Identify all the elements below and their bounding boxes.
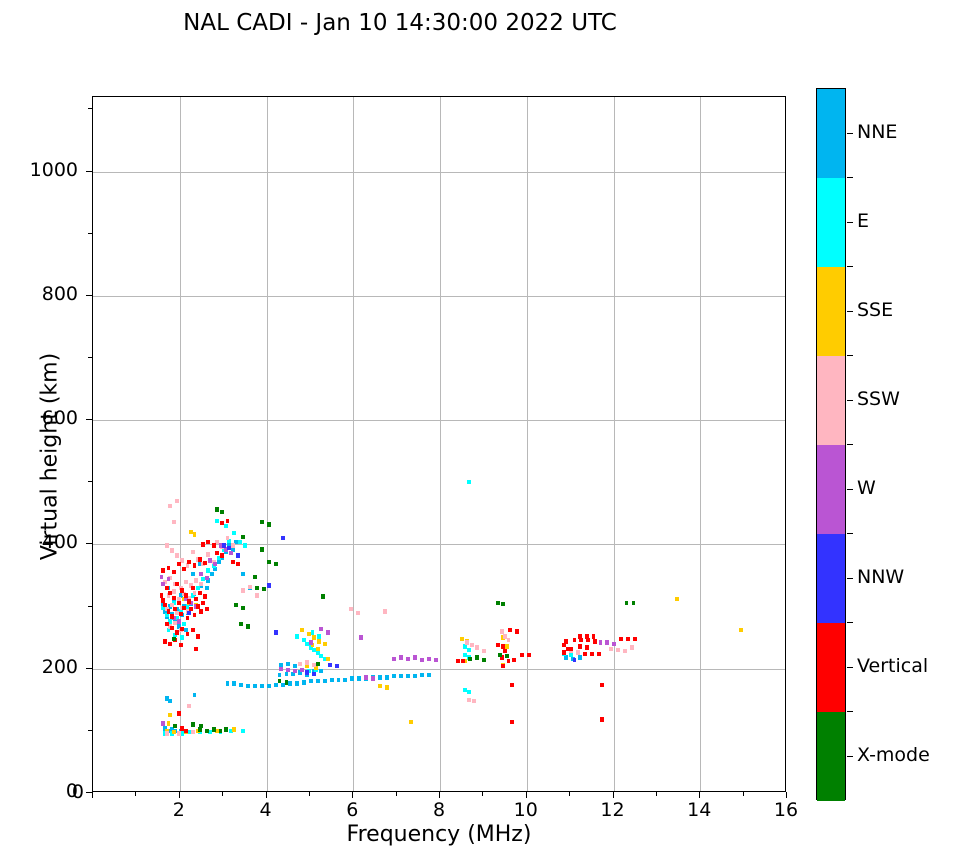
data-point xyxy=(383,609,387,613)
ionogram-figure: NAL CADI - Jan 10 14:30:00 2022 UTC 0246… xyxy=(0,0,958,857)
colorbar-band-x-mode[interactable] xyxy=(817,712,845,801)
data-point xyxy=(194,578,198,582)
data-point xyxy=(406,657,410,661)
data-point xyxy=(420,658,424,662)
y-tick-label: 1000 xyxy=(0,159,78,181)
data-point xyxy=(267,684,271,688)
data-point xyxy=(597,652,601,656)
data-point xyxy=(298,662,302,666)
data-point xyxy=(241,606,245,610)
data-point xyxy=(180,558,184,562)
data-point xyxy=(198,727,202,731)
data-point xyxy=(609,647,613,651)
data-point xyxy=(420,673,424,677)
data-point xyxy=(364,675,368,679)
data-point xyxy=(286,668,290,672)
data-point xyxy=(231,543,235,547)
data-point xyxy=(175,582,179,586)
colorbar-boundary-tick xyxy=(847,177,853,178)
data-point xyxy=(241,729,245,733)
data-point xyxy=(193,563,197,567)
data-point xyxy=(191,730,195,734)
data-point xyxy=(267,522,271,526)
data-point xyxy=(199,724,203,728)
data-point xyxy=(510,683,514,687)
data-point xyxy=(177,731,181,735)
plot-area xyxy=(92,96,786,792)
x-tick xyxy=(266,792,267,798)
data-point xyxy=(633,637,637,641)
data-point xyxy=(632,601,636,605)
data-point xyxy=(199,609,203,613)
data-point xyxy=(226,681,230,685)
data-point xyxy=(199,582,203,586)
data-point xyxy=(359,635,363,639)
data-point xyxy=(311,630,315,634)
data-point xyxy=(215,519,219,523)
data-point xyxy=(465,640,469,644)
data-point xyxy=(241,572,245,576)
data-point xyxy=(337,678,341,682)
gridline-vertical xyxy=(614,97,615,791)
data-point xyxy=(212,543,216,547)
colorbar-label-sse: SSE xyxy=(857,299,893,321)
data-point xyxy=(255,593,259,597)
data-point xyxy=(475,655,479,659)
data-point xyxy=(600,683,604,687)
data-point xyxy=(500,629,504,633)
data-point xyxy=(177,562,181,566)
data-point xyxy=(503,649,507,653)
data-point xyxy=(253,575,257,579)
data-point xyxy=(323,679,327,683)
data-point xyxy=(191,586,195,590)
data-point xyxy=(278,673,282,677)
gridline-vertical xyxy=(700,97,701,791)
data-point xyxy=(186,616,190,620)
data-point xyxy=(505,654,509,658)
data-point xyxy=(326,657,330,661)
data-point xyxy=(168,619,172,623)
data-point xyxy=(165,543,169,547)
x-tick-minor xyxy=(743,792,744,796)
gridline-horizontal xyxy=(93,296,785,297)
data-point xyxy=(508,628,512,632)
data-point xyxy=(170,626,174,630)
data-point xyxy=(501,644,505,648)
data-point xyxy=(165,586,169,590)
data-point xyxy=(187,560,191,564)
colorbar-label-e: E xyxy=(857,210,869,232)
data-point xyxy=(184,729,188,733)
data-point xyxy=(180,635,184,639)
data-point xyxy=(326,630,330,634)
data-point xyxy=(224,524,228,528)
x-tick-label: 2 xyxy=(149,799,209,821)
data-point xyxy=(172,589,176,593)
x-axis-label: Frequency (MHz) xyxy=(92,822,786,847)
data-point xyxy=(238,540,242,544)
colorbar-band-nnw[interactable] xyxy=(817,534,845,623)
colorbar-boundary-tick xyxy=(847,622,853,623)
data-point xyxy=(184,593,188,597)
data-point xyxy=(260,520,264,524)
data-point xyxy=(177,601,181,605)
data-point xyxy=(625,601,629,605)
data-point xyxy=(193,693,197,697)
page-title: NAL CADI - Jan 10 14:30:00 2022 UTC xyxy=(0,10,800,36)
x-tick xyxy=(352,792,353,798)
data-point xyxy=(205,607,209,611)
data-point xyxy=(177,711,181,715)
data-point xyxy=(623,649,627,653)
colorbar-band-e[interactable] xyxy=(817,178,845,267)
data-point xyxy=(194,597,198,601)
y-tick xyxy=(86,543,92,544)
data-point xyxy=(241,588,245,592)
data-point xyxy=(586,638,590,642)
data-point xyxy=(239,622,243,626)
data-point xyxy=(193,591,197,595)
data-point xyxy=(569,653,573,657)
data-point xyxy=(312,635,316,639)
data-point xyxy=(295,634,299,638)
data-point xyxy=(293,669,297,673)
x-tick-minor xyxy=(396,792,397,796)
data-point xyxy=(172,730,176,734)
data-point xyxy=(168,504,172,508)
data-point xyxy=(321,594,325,598)
data-point xyxy=(285,672,289,676)
data-point xyxy=(475,645,479,649)
data-point xyxy=(305,664,309,668)
data-point xyxy=(319,669,323,673)
data-point xyxy=(206,540,210,544)
data-point xyxy=(253,684,257,688)
data-point xyxy=(201,542,205,546)
data-point xyxy=(168,699,172,703)
data-point xyxy=(307,632,311,636)
colorbar-tick xyxy=(847,311,853,312)
y-tick xyxy=(86,668,92,669)
data-point xyxy=(562,650,566,654)
y-tick-minor xyxy=(88,481,92,482)
data-point xyxy=(467,690,471,694)
data-point xyxy=(501,664,505,668)
data-point xyxy=(267,583,271,587)
data-point xyxy=(187,599,191,603)
y-tick-minor xyxy=(88,357,92,358)
data-point xyxy=(187,704,191,708)
data-point xyxy=(172,520,176,524)
data-point xyxy=(319,627,323,631)
x-tick-label: 12 xyxy=(583,799,643,821)
data-point xyxy=(590,652,594,656)
data-point xyxy=(168,591,172,595)
data-point xyxy=(232,727,236,731)
data-point xyxy=(248,585,252,589)
data-point xyxy=(236,562,240,566)
data-point xyxy=(616,648,620,652)
data-point xyxy=(285,680,289,684)
colorbar-tick xyxy=(847,489,853,490)
data-point xyxy=(456,659,460,663)
data-point xyxy=(213,562,217,566)
data-point xyxy=(630,645,634,649)
data-point xyxy=(295,681,299,685)
data-point xyxy=(626,637,630,641)
data-point xyxy=(274,683,278,687)
data-point xyxy=(578,655,582,659)
x-tick xyxy=(526,792,527,798)
data-point xyxy=(212,727,216,731)
x-tick xyxy=(699,792,700,798)
data-point xyxy=(316,679,320,683)
y-tick-label: 200 xyxy=(0,656,78,678)
data-point xyxy=(167,566,171,570)
data-point xyxy=(170,548,174,552)
data-point xyxy=(599,640,603,644)
data-point xyxy=(172,637,176,641)
data-point xyxy=(515,629,519,633)
colorbar[interactable] xyxy=(816,88,846,800)
x-tick-label: 10 xyxy=(496,799,556,821)
y-tick-minor xyxy=(88,108,92,109)
data-point xyxy=(350,676,354,680)
data-point xyxy=(675,597,679,601)
data-point xyxy=(262,587,266,591)
data-point xyxy=(229,551,233,555)
data-point xyxy=(399,674,403,678)
data-point xyxy=(312,672,316,676)
data-point xyxy=(317,639,321,643)
data-point xyxy=(286,662,290,666)
data-point xyxy=(173,724,177,728)
colorbar-label-x-mode: X-mode xyxy=(857,744,930,766)
data-point xyxy=(427,657,431,661)
data-point xyxy=(317,634,321,638)
data-point xyxy=(579,638,583,642)
x-tick-minor xyxy=(482,792,483,796)
data-point xyxy=(600,717,604,721)
data-point xyxy=(167,577,171,581)
data-point xyxy=(343,678,347,682)
data-point xyxy=(357,676,361,680)
data-point xyxy=(213,567,217,571)
data-point xyxy=(227,546,231,550)
y-tick-label: 0 xyxy=(0,780,78,802)
x-tick-label: 6 xyxy=(322,799,382,821)
data-point xyxy=(512,658,516,662)
x-tick xyxy=(179,792,180,798)
data-point xyxy=(168,642,172,646)
data-point xyxy=(196,604,200,608)
data-point xyxy=(206,568,210,572)
data-point xyxy=(161,598,165,602)
data-point xyxy=(300,628,304,632)
data-point xyxy=(573,638,577,642)
data-point xyxy=(172,570,176,574)
x-tick xyxy=(613,792,614,798)
colorbar-tick xyxy=(847,756,853,757)
gridline-vertical xyxy=(353,97,354,791)
data-point xyxy=(564,655,568,659)
y-tick xyxy=(86,792,92,793)
data-point xyxy=(302,680,306,684)
data-point xyxy=(243,543,247,547)
gridline-horizontal xyxy=(93,544,785,545)
colorbar-band-ssw[interactable] xyxy=(817,356,845,445)
data-point xyxy=(184,580,188,584)
data-point xyxy=(161,721,165,725)
x-tick-label: 16 xyxy=(756,799,816,821)
data-point xyxy=(201,601,205,605)
y-tick-minor xyxy=(88,233,92,234)
data-point xyxy=(260,547,264,551)
data-point xyxy=(323,642,327,646)
data-point xyxy=(226,536,230,540)
data-point xyxy=(182,622,186,626)
colorbar-band-w[interactable] xyxy=(817,445,845,534)
data-point xyxy=(189,607,193,611)
data-point xyxy=(585,634,589,638)
data-point xyxy=(482,649,486,653)
data-point xyxy=(335,664,339,668)
data-point xyxy=(288,681,292,685)
data-point xyxy=(187,611,191,615)
data-point xyxy=(356,611,360,615)
data-point xyxy=(612,642,616,646)
data-point xyxy=(167,609,171,613)
data-point xyxy=(593,639,597,643)
data-point xyxy=(527,653,531,657)
colorbar-tick xyxy=(847,222,853,223)
data-point xyxy=(194,647,198,651)
x-tick-minor xyxy=(222,792,223,796)
data-point xyxy=(186,563,190,567)
data-point xyxy=(278,679,282,683)
y-tick-minor xyxy=(88,606,92,607)
x-tick-minor xyxy=(569,792,570,796)
data-point xyxy=(179,643,183,647)
data-point xyxy=(378,675,382,679)
data-point xyxy=(198,591,202,595)
data-point xyxy=(175,499,179,503)
data-point xyxy=(196,634,200,638)
data-point xyxy=(573,658,577,662)
x-tick xyxy=(786,792,787,798)
data-point xyxy=(316,647,320,651)
data-point xyxy=(205,576,209,580)
gridline-vertical xyxy=(180,97,181,791)
data-point xyxy=(179,612,183,616)
data-point xyxy=(267,560,271,564)
gridline-vertical xyxy=(527,97,528,791)
data-point xyxy=(191,550,195,554)
data-point xyxy=(619,637,623,641)
x-tick-minor xyxy=(309,792,310,796)
data-point xyxy=(281,536,285,540)
x-tick-label: 14 xyxy=(669,799,729,821)
data-point xyxy=(413,655,417,659)
data-point xyxy=(578,644,582,648)
data-point xyxy=(215,551,219,555)
y-tick xyxy=(86,295,92,296)
data-point xyxy=(255,586,259,590)
data-point xyxy=(186,632,190,636)
data-point xyxy=(193,613,197,617)
x-tick-label: 8 xyxy=(409,799,469,821)
data-point xyxy=(328,663,332,667)
data-point xyxy=(205,586,209,590)
data-point xyxy=(232,531,236,535)
data-point xyxy=(163,639,167,643)
data-point xyxy=(191,628,195,632)
data-point xyxy=(231,560,235,564)
data-point xyxy=(305,660,309,664)
data-point xyxy=(205,729,209,733)
data-point xyxy=(385,675,389,679)
data-point xyxy=(196,586,200,590)
data-point xyxy=(173,607,177,611)
gridline-vertical xyxy=(440,97,441,791)
data-point xyxy=(507,638,511,642)
data-point xyxy=(165,731,169,735)
data-point xyxy=(434,658,438,662)
colorbar-band-sse[interactable] xyxy=(817,267,845,356)
data-point xyxy=(220,553,224,557)
data-point xyxy=(191,572,195,576)
colorbar-tick xyxy=(847,578,853,579)
colorbar-label-nne: NNE xyxy=(857,121,897,143)
x-tick-minor xyxy=(656,792,657,796)
data-point xyxy=(199,572,203,576)
data-point xyxy=(470,643,474,647)
data-point xyxy=(467,648,471,652)
data-point xyxy=(293,664,297,668)
data-point xyxy=(217,560,221,564)
data-point xyxy=(467,480,471,484)
data-point xyxy=(191,722,195,726)
data-point xyxy=(208,558,212,562)
colorbar-label-nnw: NNW xyxy=(857,566,904,588)
data-point xyxy=(220,521,224,525)
data-point xyxy=(168,713,172,717)
data-point xyxy=(234,603,238,607)
colorbar-band-nne[interactable] xyxy=(817,89,845,178)
data-point xyxy=(167,721,171,725)
colorbar-tick xyxy=(847,667,853,668)
data-point xyxy=(182,606,186,610)
colorbar-label-vertical: Vertical xyxy=(857,655,928,677)
data-point xyxy=(385,685,389,689)
data-point xyxy=(180,627,184,631)
data-point xyxy=(160,593,164,597)
data-point xyxy=(569,647,573,651)
colorbar-boundary-tick xyxy=(847,711,853,712)
colorbar-label-w: W xyxy=(857,477,876,499)
data-point xyxy=(241,535,245,539)
colorbar-band-vertical[interactable] xyxy=(817,623,845,712)
data-point xyxy=(371,676,375,680)
data-point xyxy=(461,659,465,663)
data-point xyxy=(507,659,511,663)
data-point xyxy=(210,572,214,576)
data-point xyxy=(309,679,313,683)
data-point xyxy=(246,684,250,688)
data-point xyxy=(177,619,181,623)
colorbar-boundary-tick xyxy=(847,266,853,267)
